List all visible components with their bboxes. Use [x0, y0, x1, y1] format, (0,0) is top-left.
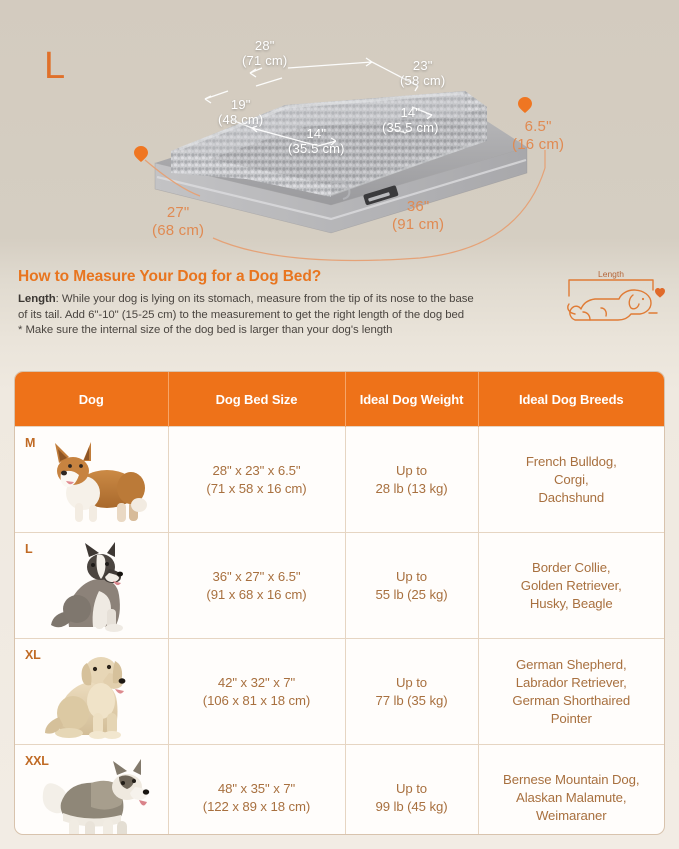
cell-breeds-l: Border Collie, Golden Retriever, Husky, …: [478, 533, 664, 639]
hero-section: L: [0, 0, 679, 262]
cell-dog-m: M: [15, 427, 168, 533]
table-header-row: Dog Dog Bed Size Ideal Dog Weight Ideal …: [15, 372, 664, 427]
col-header-bed-size: Dog Bed Size: [168, 372, 345, 427]
measure-length-label: Length: [18, 293, 56, 305]
cell-breeds-m: French Bulldog, Corgi, Dachshund: [478, 427, 664, 533]
dim-inner-left-width: 19" (48 cm): [218, 97, 263, 127]
cell-bed-size-m: 28" x 23" x 6.5" (71 x 58 x 16 cm): [168, 427, 345, 533]
dim-outer-width: 36" (91 cm): [392, 198, 444, 234]
dim-top-depth: 23" (58 cm): [400, 58, 445, 88]
table-row: L: [15, 533, 664, 639]
measure-line-1: : While your dog is lying on its stomach…: [56, 293, 474, 305]
table-row: XXL: [15, 745, 664, 836]
cell-bed-size-l: 36" x 27" x 6.5" (91 x 68 x 16 cm): [168, 533, 345, 639]
dim-inner-front-depth: 14" (35.5 cm): [288, 126, 345, 156]
cell-weight-l: Up to 55 lb (25 kg): [345, 533, 478, 639]
paw-marker-depth: [133, 145, 149, 163]
dim-inner-right-depth: 14" (35.5 cm): [382, 105, 439, 135]
col-header-weight: Ideal Dog Weight: [345, 372, 478, 427]
cell-weight-xl: Up to 77 lb (35 kg): [345, 639, 478, 745]
dog-photo-border-collie: [39, 539, 167, 634]
cell-dog-xxl: XXL: [15, 745, 168, 836]
cell-dog-xl: XL: [15, 639, 168, 745]
measure-line-2: of its tail. Add 6"-10" (15-25 cm) to th…: [18, 309, 464, 321]
size-label-m: M: [25, 434, 35, 452]
dim-outer-height: 6.5" (16 cm): [512, 118, 564, 154]
size-label-l: L: [25, 540, 32, 558]
paw-marker-height: [517, 96, 533, 114]
cell-bed-size-xxl: 48" x 35" x 7" (122 x 89 x 18 cm): [168, 745, 345, 836]
size-badge: L: [44, 47, 66, 85]
dog-photo-malamute: [39, 751, 167, 835]
size-chart-table: Dog Dog Bed Size Ideal Dog Weight Ideal …: [14, 371, 665, 835]
measure-line-3: * Make sure the internal size of the dog…: [18, 324, 392, 336]
col-header-breeds: Ideal Dog Breeds: [478, 372, 664, 427]
cell-weight-m: Up to 28 lb (13 kg): [345, 427, 478, 533]
dog-length-diagram-icon: Length: [561, 268, 665, 330]
table-row: M: [15, 427, 664, 533]
dim-outer-depth: 27" (68 cm): [152, 204, 204, 240]
dog-icon-length-label: Length: [598, 269, 624, 279]
dim-top-width: 28" (71 cm): [242, 38, 287, 68]
col-header-dog: Dog: [15, 372, 168, 427]
cell-breeds-xl: German Shepherd, Labrador Retriever, Ger…: [478, 639, 664, 745]
cell-breeds-xxl: Bernese Mountain Dog, Alaskan Malamute, …: [478, 745, 664, 836]
table-row: XL: [15, 639, 664, 745]
cell-bed-size-xl: 42" x 32" x 7" (106 x 81 x 18 cm): [168, 639, 345, 745]
dog-photo-labrador: [39, 645, 167, 740]
infographic-page: L: [0, 0, 679, 849]
cell-weight-xxl: Up to 99 lb (45 kg): [345, 745, 478, 836]
dog-photo-corgi: [39, 433, 167, 528]
measure-section: How to Measure Your Dog for a Dog Bed? L…: [0, 262, 679, 339]
measure-body: Length: While your dog is lying on its s…: [18, 292, 563, 339]
cell-dog-l: L: [15, 533, 168, 639]
